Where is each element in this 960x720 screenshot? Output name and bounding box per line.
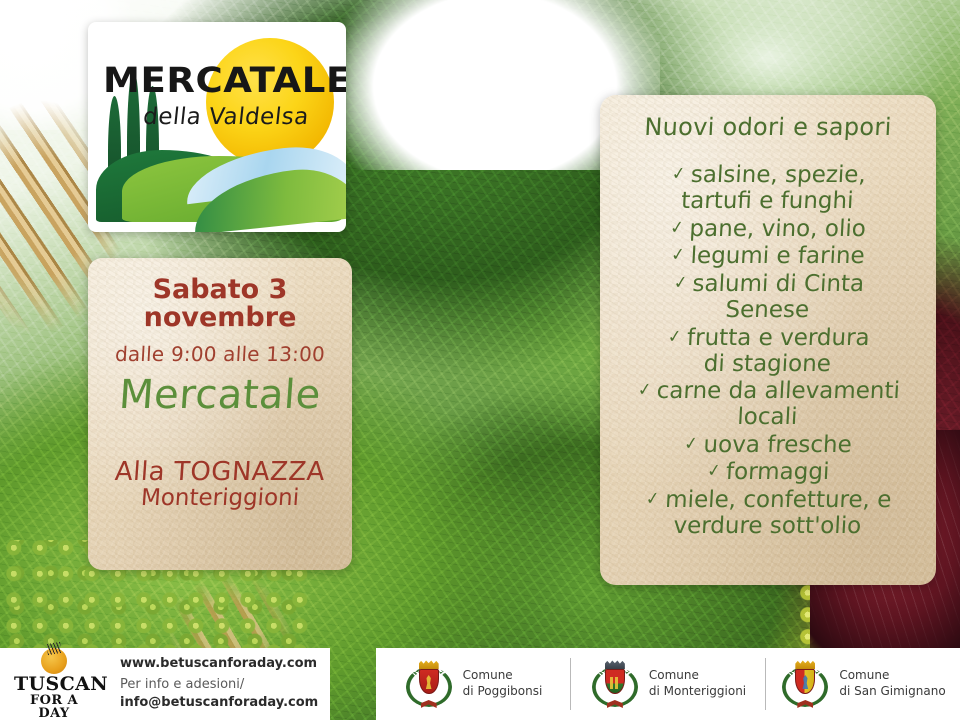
comune-line-2: di Monteriggioni xyxy=(649,684,746,700)
products-heading: Nuovi odori e sapori xyxy=(613,113,922,141)
comune-line-1: Comune xyxy=(839,668,945,684)
sun-bee-icon xyxy=(41,648,67,674)
product-item: ✓miele, confetture, e verdure sott'olio xyxy=(613,488,924,540)
logo-wordmark: MERCATALE xyxy=(103,64,346,99)
check-icon: ✓ xyxy=(637,380,653,401)
comune-label: Comune di San Gimignano xyxy=(839,668,945,699)
brand-line-2: FOR A DAY xyxy=(14,694,94,720)
product-label: pane, vino, olio xyxy=(689,216,867,242)
info-label: Per info e adesioni/ xyxy=(120,676,318,694)
event-hours: dalle 9:00 alle 13:00 xyxy=(97,342,342,366)
check-icon: ✓ xyxy=(684,434,700,455)
logo-subtitle: della Valdelsa xyxy=(107,104,346,130)
product-item: ✓salsine, spezie, tartufi e funghi xyxy=(613,163,924,215)
product-item: ✓pane, vino, olio xyxy=(613,217,922,243)
event-details-card: Sabato 3 novembre dalle 9:00 alle 13:00 … xyxy=(88,258,352,570)
tuscan-for-a-day-logo: TUSCAN FOR A DAY xyxy=(14,648,94,720)
coat-of-arms-icon xyxy=(404,659,454,709)
comune-line-2: di Poggibonsi xyxy=(463,684,543,700)
product-label: salsine, spezie, tartufi e funghi xyxy=(681,162,867,214)
product-label: formaggi xyxy=(725,459,830,485)
product-label: legumi e farine xyxy=(690,243,865,269)
product-item: ✓salumi di Cinta Senese xyxy=(613,272,924,324)
check-icon: ✓ xyxy=(671,245,687,266)
comune-monteriggioni: Comune di Monteriggioni xyxy=(570,658,765,710)
contact-email[interactable]: info@betuscanforaday.com xyxy=(120,694,318,712)
footer-comuni-block: Comune di Poggibonsi Comune di Monterigg… xyxy=(376,648,960,720)
product-label: salumi di Cinta Senese xyxy=(692,271,865,323)
coat-of-arms-icon xyxy=(590,659,640,709)
event-date: Sabato 3 novembre xyxy=(98,276,342,332)
website-url[interactable]: www.betuscanforaday.com xyxy=(120,656,318,671)
footer-bar: TUSCAN FOR A DAY www.betuscanforaday.com… xyxy=(0,648,960,720)
mercatale-logo-card: MERCATALE della Valdelsa xyxy=(88,22,346,232)
product-item: ✓carne da allevamenti locali xyxy=(613,379,924,431)
comune-label: Comune di Monteriggioni xyxy=(649,668,746,699)
contact-block: www.betuscanforaday.com Per info e adesi… xyxy=(120,656,318,711)
product-label: carne da allevamenti locali xyxy=(656,378,900,430)
footer-left-block: TUSCAN FOR A DAY www.betuscanforaday.com… xyxy=(0,648,330,720)
coat-of-arms-icon xyxy=(780,659,830,709)
product-item: ✓frutta e verdura di stagione xyxy=(613,326,924,378)
check-icon: ✓ xyxy=(670,218,686,239)
comune-label: Comune di Poggibonsi xyxy=(463,668,543,699)
product-item: ✓formaggi xyxy=(613,460,922,486)
poster: MERCATALE della Valdelsa Sabato 3 novemb… xyxy=(0,0,960,720)
product-label: frutta e verdura di stagione xyxy=(686,325,870,377)
event-venue: Alla TOGNAZZA xyxy=(97,458,343,486)
comune-san-gimignano: Comune di San Gimignano xyxy=(765,658,960,710)
check-icon: ✓ xyxy=(671,164,687,185)
event-town: Monteriggioni xyxy=(97,486,343,511)
brand-line-1: TUSCAN xyxy=(14,675,94,694)
comune-poggibonsi: Comune di Poggibonsi xyxy=(376,658,570,710)
check-icon: ✓ xyxy=(706,461,722,482)
sun-icon xyxy=(206,38,334,166)
products-card: Nuovi odori e sapori ✓salsine, spezie, t… xyxy=(600,95,936,585)
comune-line-1: Comune xyxy=(463,668,543,684)
check-icon: ✓ xyxy=(667,327,683,348)
product-item: ✓legumi e farine xyxy=(613,244,922,270)
check-icon: ✓ xyxy=(645,489,661,510)
comune-line-2: di San Gimignano xyxy=(839,684,945,700)
product-item: ✓uova fresche xyxy=(613,433,922,459)
products-list: ✓salsine, spezie, tartufi e funghi✓pane,… xyxy=(614,163,922,540)
product-label: uova fresche xyxy=(703,432,853,458)
product-label: miele, confetture, e verdure sott'olio xyxy=(665,487,893,539)
comune-line-1: Comune xyxy=(649,668,746,684)
event-title: Mercatale xyxy=(97,374,344,416)
check-icon: ✓ xyxy=(673,273,689,294)
